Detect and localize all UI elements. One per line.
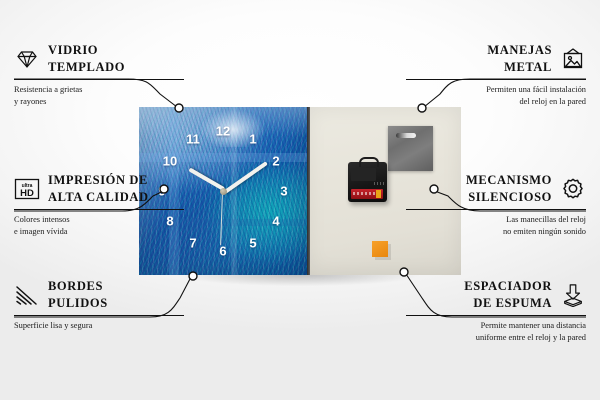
ultra-hd-icon: ultra HD: [14, 176, 40, 202]
feature-head: BORDES PULIDOS: [14, 278, 184, 312]
feature-title: IMPRESIÓN DE ALTA CALIDAD: [48, 172, 149, 206]
clock-numeral-6: 6: [219, 245, 226, 258]
feature-rule: [14, 79, 184, 80]
infographic-canvas: 12 1 2 3 4 5 6 7 8 9 10 11: [0, 0, 600, 400]
quartz-mechanism: [348, 162, 387, 202]
feature-rule: [406, 79, 586, 80]
feature-mecanismo-silencioso: MECANISMO SILENCIOSO Las manecillas del …: [406, 172, 586, 238]
battery: [351, 189, 383, 199]
feature-rule: [14, 209, 184, 210]
feature-desc: Superficie lisa y segura: [14, 320, 184, 332]
clock-minute-hand: [223, 161, 268, 194]
feature-desc: Resistencia a grietas y rayones: [14, 84, 184, 108]
clock-numeral-7: 7: [189, 237, 196, 250]
polished-edge-icon: [14, 282, 40, 308]
feature-impresion-alta-calidad: ultra HD IMPRESIÓN DE ALTA CALIDAD Color…: [14, 172, 184, 238]
glass-band: [231, 107, 237, 275]
feature-head: ESPACIADOR DE ESPUMA: [406, 278, 586, 312]
clock-numeral-1: 1: [249, 133, 256, 146]
mechanism-label: [374, 182, 384, 185]
feature-desc: Permiten una fácil instalación del reloj…: [406, 84, 586, 108]
clock-numeral-3: 3: [280, 185, 287, 198]
feature-rule: [406, 315, 586, 316]
clock-numeral-2: 2: [272, 155, 279, 168]
mechanism-panel: [351, 168, 376, 181]
feature-head: MANEJAS METAL: [406, 42, 586, 76]
down-arrow-pad-icon: [560, 282, 586, 308]
feature-desc: Las manecillas del reloj no emiten ningú…: [406, 214, 586, 238]
feature-title: VIDRIO TEMPLADO: [48, 42, 125, 76]
battery-band: [353, 192, 375, 195]
clock-hand-cap: [220, 188, 227, 195]
clock-side-edge: [307, 107, 310, 275]
hanger-slot: [396, 133, 416, 138]
feature-manejas-metal: MANEJAS METAL Permiten una fácil instala…: [406, 42, 586, 108]
feature-head: VIDRIO TEMPLADO: [14, 42, 184, 76]
battery-tip: [376, 190, 381, 198]
feature-rule: [14, 315, 184, 316]
clock-numeral-5: 5: [249, 237, 256, 250]
feature-rule: [406, 209, 586, 210]
picture-frame-icon: [560, 46, 586, 72]
feature-title: MECANISMO SILENCIOSO: [466, 172, 552, 206]
diamond-icon: [14, 46, 40, 72]
clock-numeral-12: 12: [216, 125, 230, 138]
mechanism-hanging-loop: [359, 157, 379, 167]
glass-glare: [187, 107, 279, 147]
clock-numeral-4: 4: [272, 215, 279, 228]
clock-numeral-11: 11: [186, 133, 200, 146]
feature-title: MANEJAS METAL: [487, 42, 552, 76]
feature-desc: Colores intensos e imagen vívida: [14, 214, 184, 238]
feature-desc: Permite mantener una distancia uniforme …: [406, 320, 586, 344]
feature-vidrio-templado: VIDRIO TEMPLADO Resistencia a grietas y …: [14, 42, 184, 108]
feature-espaciador-espuma: ESPACIADOR DE ESPUMA Permite mantener un…: [406, 278, 586, 344]
svg-text:HD: HD: [20, 188, 34, 199]
feature-bordes-pulidos: BORDES PULIDOS Superficie lisa y segura: [14, 278, 184, 332]
clock-second-hand: [220, 191, 223, 245]
clock-numeral-10: 10: [163, 155, 177, 168]
feature-head: MECANISMO SILENCIOSO: [406, 172, 586, 206]
clock-hour-hand: [188, 168, 225, 191]
feature-title: BORDES PULIDOS: [48, 278, 108, 312]
metal-hanger-plate: [388, 126, 433, 171]
gear-icon: [560, 176, 586, 202]
feature-title: ESPACIADOR DE ESPUMA: [464, 278, 552, 312]
orange-foam-spacer: [372, 241, 388, 257]
feature-head: ultra HD IMPRESIÓN DE ALTA CALIDAD: [14, 172, 184, 206]
